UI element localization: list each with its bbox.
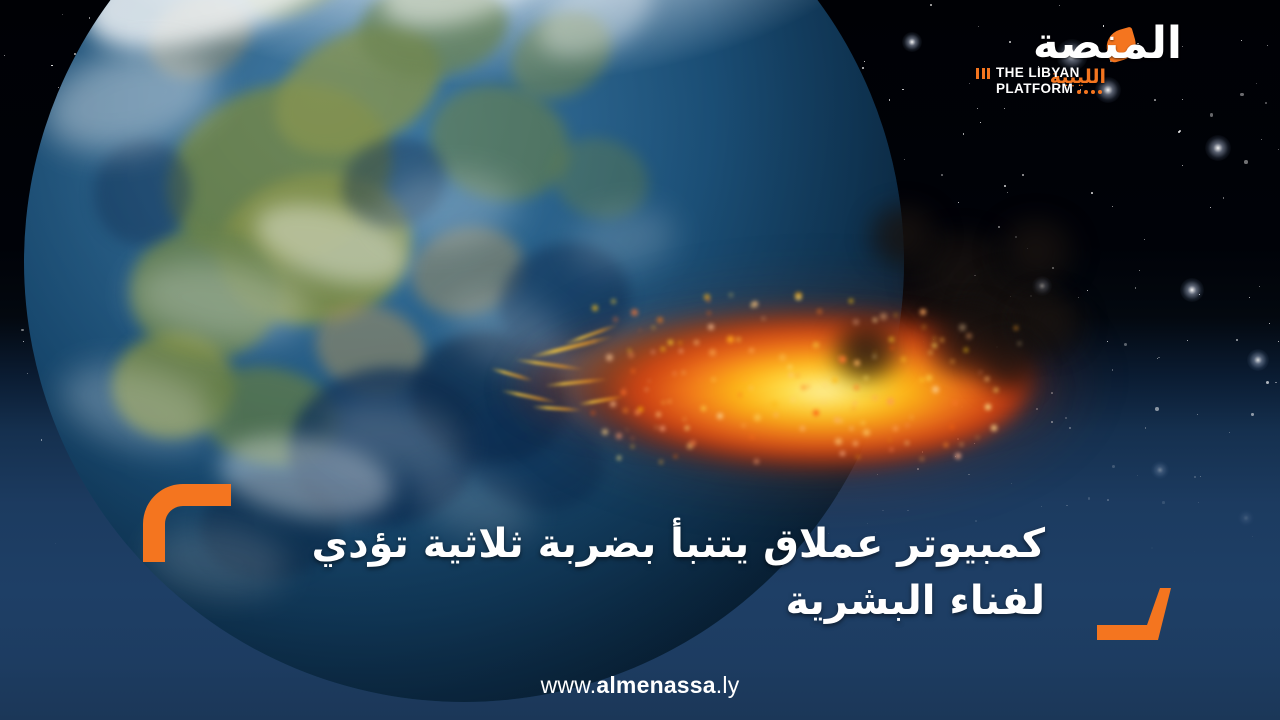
logo-english-line-2: PLATFORM <box>996 81 1080 97</box>
headline-text: كمبيوتر عملاق يتنبأ بضربة ثلاثية تؤدي لف… <box>311 521 1045 624</box>
page-title: كمبيوتر عملاق يتنبأ بضربة ثلاثية تؤدي لف… <box>255 516 1045 630</box>
logo-english-line-1: THE LIBYAN <box>996 65 1080 81</box>
logo-dots-icon <box>1077 90 1102 94</box>
site-url[interactable]: www.almenassa.ly <box>0 672 1280 699</box>
logo-english-title: THE LIBYAN PLATFORM <box>996 65 1080 97</box>
url-name: almenassa <box>596 672 715 698</box>
url-tld: .ly <box>716 672 740 698</box>
orange-bracket-bottom-right-icon <box>1097 588 1171 640</box>
url-prefix: www. <box>541 672 597 698</box>
orange-bracket-top-left-icon <box>143 484 231 562</box>
brand-logo[interactable]: المنصة الليبية THE LIBYAN PLATFORM <box>996 24 1182 108</box>
logo-arabic-title: المنصة <box>1033 22 1182 66</box>
social-media-card: المنصة الليبية THE LIBYAN PLATFORM كمبيو… <box>0 0 1280 720</box>
logo-bars-icon <box>976 68 990 79</box>
